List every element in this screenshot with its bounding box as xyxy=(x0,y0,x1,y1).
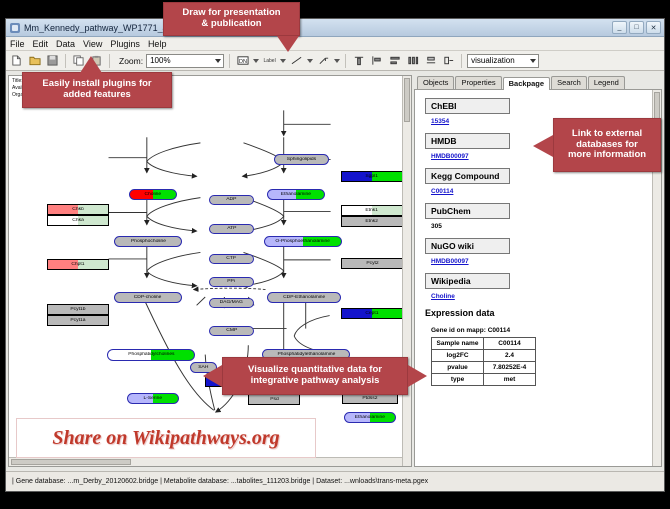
node-label: CMP xyxy=(226,329,237,334)
expr-value: met xyxy=(484,374,536,386)
node-label: L-Serine xyxy=(144,396,163,401)
callout-plugins: Easily install plugins for added feature… xyxy=(22,72,172,108)
node-label: Sgpl1 xyxy=(366,174,379,179)
close-button[interactable]: ✕ xyxy=(646,21,661,34)
metabolite-node-cdp-choline[interactable]: CDP-choline xyxy=(114,292,182,303)
table-row: Sample name C00114 xyxy=(432,338,536,350)
metabolite-node-phosphocholine[interactable]: Phosphocholine xyxy=(114,236,182,247)
open-folder-icon[interactable] xyxy=(27,53,42,68)
callout-draw-arrow xyxy=(277,36,299,52)
metabolite-node-ctp[interactable]: CTP xyxy=(209,254,254,264)
callout-link: Link to external databases for more info… xyxy=(553,118,661,172)
metabolite-node-o-phosphoethanolamine[interactable]: O-Phosphoethanolamine xyxy=(264,236,342,247)
node-label: Phosphatidylcholines xyxy=(128,353,174,358)
expr-value: 2.4 xyxy=(484,350,536,362)
align-left-icon[interactable] xyxy=(369,53,384,68)
app-icon xyxy=(10,23,20,33)
metabolite-node-cdp-ethanolamine[interactable]: CDP-Ethanolamine xyxy=(267,292,341,303)
window-controls: _ □ ✕ xyxy=(612,21,664,34)
expr-key: Sample name xyxy=(432,338,484,350)
node-label: Choline xyxy=(145,192,162,197)
metabolite-node-ppi[interactable]: PPi xyxy=(209,277,254,287)
table-row: log2FC 2.4 xyxy=(432,350,536,362)
node-label: O-Phosphoethanolamine xyxy=(276,239,331,244)
gene-node-chkb[interactable]: Chkb xyxy=(47,204,109,215)
node-label: Etnk1 xyxy=(366,208,379,213)
expression-table: Sample name C00114 log2FC 2.4 pvalue 7.8… xyxy=(431,337,536,386)
chevron-down-icon xyxy=(530,59,536,63)
node-label: Pcyt1b xyxy=(70,307,85,312)
kegg-header: Kegg Compound xyxy=(425,168,510,184)
gene-node-psd[interactable]: Psd xyxy=(248,394,300,405)
align-top-icon[interactable] xyxy=(351,53,366,68)
minimize-button[interactable]: _ xyxy=(612,21,627,34)
svg-text:DN: DN xyxy=(239,59,247,65)
zoom-label: Zoom: xyxy=(119,56,143,66)
menu-plugins[interactable]: Plugins xyxy=(110,39,140,49)
callout-draw: Draw for presentation & publication xyxy=(163,2,300,36)
metabolite-node-cmp[interactable]: CMP xyxy=(209,326,254,336)
expr-value: 7.80252E-4 xyxy=(484,362,536,374)
node-label: Sphingolipids xyxy=(287,157,316,162)
toolbar-separator xyxy=(65,54,66,68)
menu-view[interactable]: View xyxy=(83,39,102,49)
gene-id-line: Gene id on mapp: C00114 xyxy=(431,327,653,334)
table-row: type met xyxy=(432,374,536,386)
distribute-vertical-icon[interactable] xyxy=(387,53,402,68)
visualization-combo[interactable]: visualization xyxy=(467,54,539,68)
gene-node-etnk1[interactable]: Etnk1 xyxy=(341,205,403,216)
tab-legend[interactable]: Legend xyxy=(588,76,625,89)
wikipedia-link[interactable]: Choline xyxy=(431,293,653,300)
canvas-hscrollbar[interactable] xyxy=(9,457,402,466)
node-label: Chka xyxy=(72,218,84,223)
callout-visualize: Visualize quantitative data for integrat… xyxy=(222,357,408,395)
node-label: DAG/MAG xyxy=(220,301,243,306)
visualization-value: visualization xyxy=(471,56,515,65)
menu-file[interactable]: File xyxy=(10,39,25,49)
callout-link-line1: Link to external xyxy=(572,129,642,140)
statusbar-text: | Gene database: ...m_Derby_20120602.bri… xyxy=(12,478,428,485)
node-label: Cept1 xyxy=(365,311,378,316)
node-label: Chpt1 xyxy=(71,262,84,267)
arrow-shape-icon[interactable] xyxy=(316,53,331,68)
screenshot-root: Mm_Kennedy_pathway_WP1771_45176.gpml _ □… xyxy=(0,0,670,509)
distribute-horizontal-icon[interactable] xyxy=(405,53,420,68)
new-file-icon[interactable] xyxy=(9,53,24,68)
node-label: Ptdss2 xyxy=(362,396,377,401)
metabolite-node-dag-mag[interactable]: DAG/MAG xyxy=(209,298,254,308)
tab-backpage[interactable]: Backpage xyxy=(503,77,550,90)
chevron-down-icon[interactable] xyxy=(307,59,313,63)
chevron-down-icon[interactable] xyxy=(280,59,286,63)
toolbar-separator xyxy=(345,54,346,68)
maximize-button[interactable]: □ xyxy=(629,21,644,34)
metabolite-node-sphingolipids[interactable]: Sphingolipids xyxy=(274,154,329,165)
node-label: ADP xyxy=(226,198,236,203)
node-label: CDP-Ethanolamine xyxy=(283,295,325,300)
statusbar: | Gene database: ...m_Derby_20120602.bri… xyxy=(6,471,664,491)
tab-objects[interactable]: Objects xyxy=(417,76,454,89)
expr-key: pvalue xyxy=(432,362,484,374)
metabolite-node-ethanolamine-right[interactable]: Ethanolamine xyxy=(344,412,396,423)
node-label: Phosphocholine xyxy=(130,239,165,244)
side-tabstrip: Objects Properties Backpage Search Legen… xyxy=(414,75,662,90)
node-label: CDP-choline xyxy=(134,295,162,300)
datanode-icon[interactable]: DN xyxy=(235,53,250,68)
hmdb-header: HMDB xyxy=(425,133,510,149)
chevron-down-icon[interactable] xyxy=(334,59,340,63)
metabolite-node-l-serine-left[interactable]: L-Serine xyxy=(127,393,179,404)
metabolite-node-adp[interactable]: ADP xyxy=(209,195,254,205)
node-label: Chkb xyxy=(72,207,84,212)
scroll-thumb[interactable] xyxy=(404,78,410,122)
gene-node-chpt1[interactable]: Chpt1 xyxy=(47,259,109,270)
menu-help[interactable]: Help xyxy=(148,39,167,49)
chevron-down-icon[interactable] xyxy=(253,59,259,63)
stack-icon[interactable] xyxy=(423,53,438,68)
gene-node-sgpl1[interactable]: Sgpl1 xyxy=(341,171,403,182)
expression-data-title: Expression data xyxy=(425,308,653,318)
menubar: File Edit Data View Plugins Help xyxy=(6,37,664,51)
pathway-connectors xyxy=(9,76,411,466)
pathway-canvas[interactable]: Title: Availa Organi xyxy=(8,75,412,467)
toolbar-separator xyxy=(229,54,230,68)
callout-visualize-line2: integrative pathway analysis xyxy=(251,376,380,387)
node-label: Psd xyxy=(270,397,279,402)
pubchem-header: PubChem xyxy=(425,203,510,219)
metabolite-node-atp[interactable]: ATP xyxy=(209,224,254,234)
callout-share: Share on Wikipathways.org xyxy=(16,418,316,458)
kegg-link[interactable]: C00114 xyxy=(431,188,653,195)
callout-visualize-arrow-right xyxy=(408,365,427,387)
gene-node-pcyt1a[interactable]: Pcyt1a xyxy=(47,315,109,326)
toolbar-separator xyxy=(109,54,110,68)
tab-properties[interactable]: Properties xyxy=(455,76,501,89)
canvas-vscrollbar[interactable] xyxy=(402,76,411,466)
pubchem-value: 305 xyxy=(431,223,653,230)
node-label: Etnk2 xyxy=(366,219,379,224)
toolbar: Zoom: 100% DN Label xyxy=(6,51,664,71)
node-label: PPi xyxy=(228,280,236,285)
callout-plugins-arrow xyxy=(80,56,102,73)
node-label: ATP xyxy=(227,227,236,232)
table-row: pvalue 7.80252E-4 xyxy=(432,362,536,374)
line-icon[interactable] xyxy=(289,53,304,68)
tab-search[interactable]: Search xyxy=(551,76,587,89)
metabolite-node-phosphatidylcholines[interactable]: Phosphatidylcholines xyxy=(107,349,195,361)
scroll-thumb[interactable] xyxy=(11,459,131,465)
menu-data[interactable]: Data xyxy=(56,39,75,49)
callout-link-arrow xyxy=(533,135,553,157)
expr-key: type xyxy=(432,374,484,386)
gene-node-pcyt1b[interactable]: Pcyt1b xyxy=(47,304,109,315)
label-icon[interactable]: Label xyxy=(262,53,277,68)
callout-share-text: Share on Wikipathways.org xyxy=(52,427,279,450)
gene-node-cept1[interactable]: Cept1 xyxy=(341,308,403,319)
save-icon[interactable] xyxy=(45,53,60,68)
node-label: CTP xyxy=(227,257,237,262)
group-icon[interactable] xyxy=(441,53,456,68)
metabolite-node-choline-top[interactable]: Choline xyxy=(129,189,177,200)
chebi-header: ChEBI xyxy=(425,98,510,114)
node-label: Pcyt1a xyxy=(70,318,85,323)
nugo-header: NuGO wiki xyxy=(425,238,510,254)
metabolite-node-ethanolamine-top[interactable]: Ethanolamine xyxy=(267,189,325,200)
callout-link-line3: more information xyxy=(568,150,646,161)
expr-key: log2FC xyxy=(432,350,484,362)
zoom-combo[interactable]: 100% xyxy=(146,54,224,68)
gene-node-chka[interactable]: Chka xyxy=(47,215,109,226)
menu-edit[interactable]: Edit xyxy=(33,39,49,49)
nugo-link[interactable]: HMDB00097 xyxy=(431,258,653,265)
node-label: Pcyt2 xyxy=(366,261,378,266)
chevron-down-icon xyxy=(215,59,221,63)
zoom-value: 100% xyxy=(150,56,170,65)
callout-draw-line2: & publication xyxy=(201,19,261,30)
wikipedia-header: Wikipedia xyxy=(425,273,510,289)
callout-plugins-line2: added features xyxy=(63,90,131,101)
gene-node-etnk2[interactable]: Etnk2 xyxy=(341,216,403,227)
window-titlebar: Mm_Kennedy_pathway_WP1771_45176.gpml _ □… xyxy=(6,19,664,37)
toolbar-separator xyxy=(461,54,462,68)
node-label: Ethanolamine xyxy=(281,192,311,197)
gene-node-pcyt2[interactable]: Pcyt2 xyxy=(341,258,403,269)
expr-value: C00114 xyxy=(484,338,536,350)
node-label: Ethanolamine xyxy=(355,415,385,420)
callout-visualize-arrow-left xyxy=(203,365,222,387)
